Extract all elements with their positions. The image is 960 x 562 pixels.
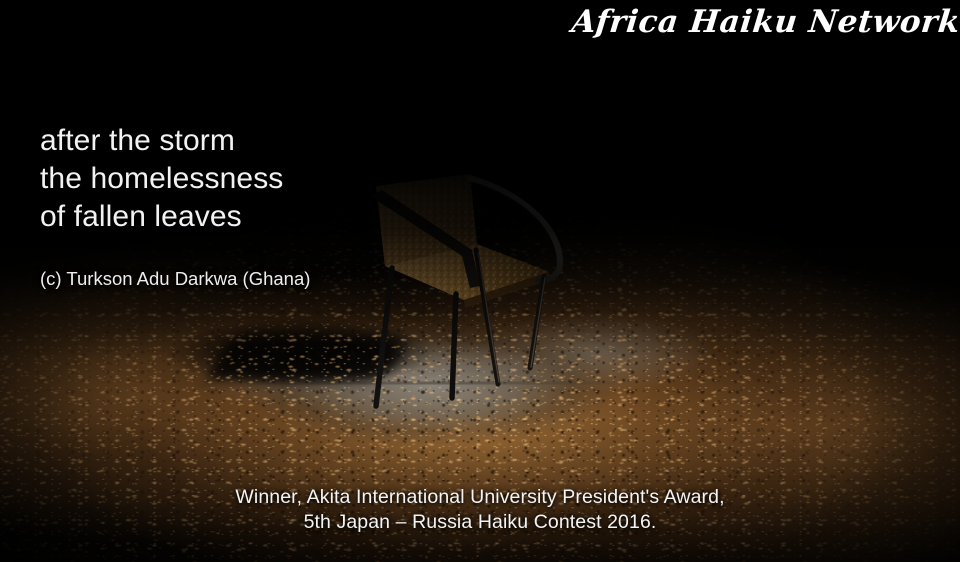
poet-attribution: (c) Turkson Adu Darkwa (Ghana) <box>40 267 310 291</box>
award-caption: Winner, Akita International University P… <box>0 485 960 535</box>
haiku-poster: Africa Haiku Network after the storm the… <box>0 0 960 562</box>
haiku-line-1: after the storm <box>40 122 470 160</box>
africa-haiku-network-logo: Africa Haiku Network <box>565 0 960 46</box>
haiku-line-2: the homelessness <box>40 160 470 198</box>
award-caption-line-2: 5th Japan – Russia Haiku Contest 2016. <box>0 510 960 535</box>
haiku-line-3: of fallen leaves <box>40 198 470 236</box>
award-caption-line-1: Winner, Akita International University P… <box>0 485 960 510</box>
haiku-poem: after the storm the homelessness of fall… <box>40 122 470 236</box>
